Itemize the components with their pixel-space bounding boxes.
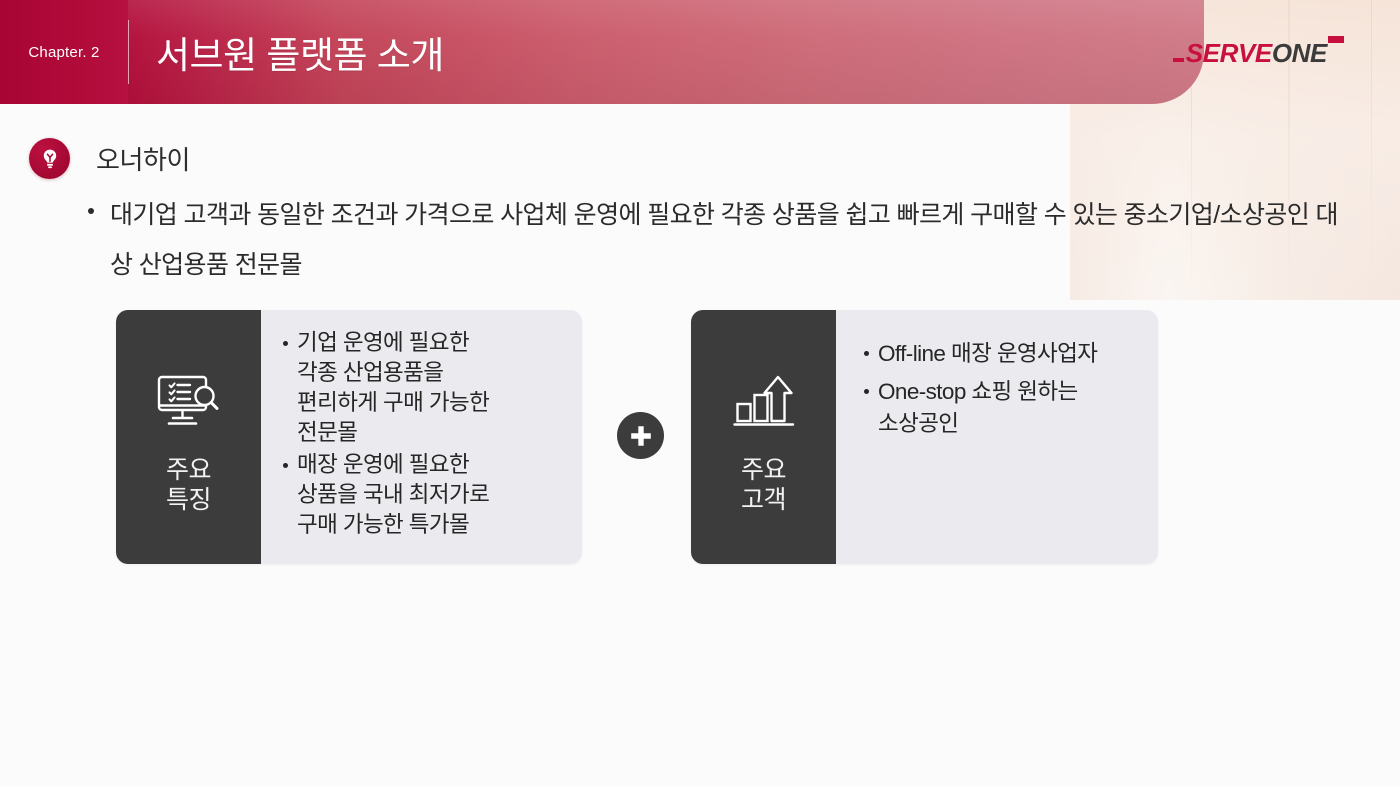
card-icon-panel: 주요 특징 <box>116 310 261 564</box>
card-main-customers[interactable]: 주요 고객 Off-line 매장 운영사업자 One-stop 쇼핑 원하는 … <box>691 310 1158 564</box>
monitor-checklist-search-icon <box>156 365 222 439</box>
chapter-label: Chapter. 2 <box>0 0 128 104</box>
slide-canvas: Chapter. 2 서브원 플랫폼 소개 SERVE ONE 오너하이 대기업… <box>0 0 1400 787</box>
card-icon-label: 주요 특징 <box>166 455 211 515</box>
lead-paragraph: 대기업 고객과 동일한 조건과 가격으로 사업체 운영에 필요한 각종 상품을 … <box>88 190 1358 290</box>
card-body: 기업 운영에 필요한 각종 산업용품을 편리하게 구매 가능한 전문몰 매장 운… <box>261 310 582 564</box>
plus-icon <box>617 412 664 459</box>
header-divider <box>128 20 129 84</box>
header-band: Chapter. 2 서브원 플랫폼 소개 <box>0 0 1204 104</box>
lead-bullet-icon <box>88 208 94 214</box>
logo-dash-icon <box>1173 58 1184 62</box>
background-streak <box>1371 0 1372 300</box>
bar-chart-arrow-up-icon <box>733 365 795 439</box>
card-bullet: 기업 운영에 필요한 각종 산업용품을 편리하게 구매 가능한 전문몰 <box>283 328 568 448</box>
card-icon-panel: 주요 고객 <box>691 310 836 564</box>
lightbulb-icon <box>29 138 70 179</box>
serveone-logo: SERVE ONE <box>1173 40 1344 74</box>
logo-text-serve: SERVE <box>1186 40 1272 66</box>
card-body: Off-line 매장 운영사업자 One-stop 쇼핑 원하는 소상공인 <box>836 310 1158 564</box>
card-icon-label: 주요 고객 <box>741 455 786 515</box>
page-title: 서브원 플랫폼 소개 <box>156 0 444 104</box>
logo-tick-icon <box>1328 36 1344 43</box>
section-title: 오너하이 <box>96 140 190 177</box>
logo-text-one: ONE <box>1272 40 1327 66</box>
card-bullet: One-stop 쇼핑 원하는 소상공인 <box>864 376 1144 440</box>
card-bullet: Off-line 매장 운영사업자 <box>864 338 1144 370</box>
lead-text: 대기업 고객과 동일한 조건과 가격으로 사업체 운영에 필요한 각종 상품을 … <box>88 190 1358 290</box>
section-heading: 오너하이 <box>29 138 190 179</box>
card-bullet: 매장 운영에 필요한 상품을 국내 최저가로 구매 가능한 특가몰 <box>283 450 568 540</box>
card-main-features[interactable]: 주요 특징 기업 운영에 필요한 각종 산업용품을 편리하게 구매 가능한 전문… <box>116 310 582 564</box>
